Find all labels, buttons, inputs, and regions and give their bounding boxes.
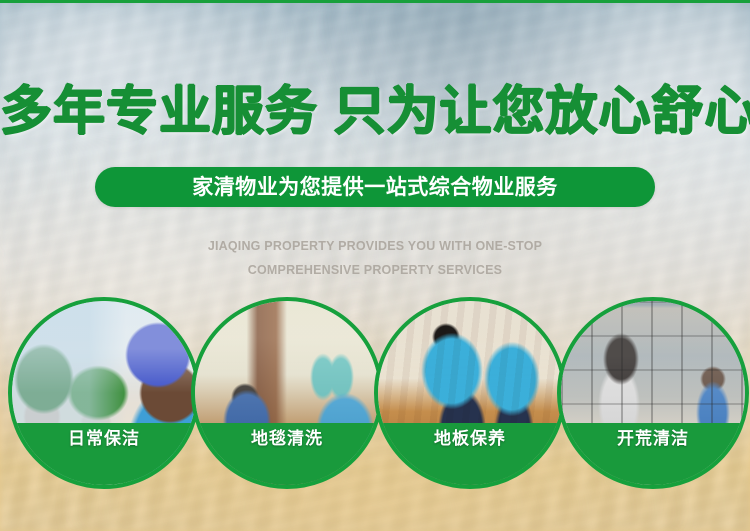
service-label: 开荒清洁 [617, 429, 689, 449]
service-circle-post-construction-cleaning[interactable]: 开荒清洁 [557, 297, 749, 489]
service-circle-carpet-cleaning[interactable]: 地毯清洗 [191, 297, 383, 489]
service-circle-daily-cleaning[interactable]: 日常保洁 [8, 297, 200, 489]
service-circle-floor-care[interactable]: 地板保养 [374, 297, 566, 489]
tagline-text: 家清物业为您提供一站式综合物业服务 [192, 177, 558, 198]
top-accent-bar [0, 0, 750, 3]
page-title: 多年专业服务 只为让您放心舒心 [0, 84, 750, 140]
english-subtitle: JIAQING PROPERTY PROVIDES YOU WITH ONE-S… [0, 234, 750, 282]
service-circle-list: 日常保洁 地毯清洗 地板保养 开荒清洁 [0, 297, 750, 493]
english-subtitle-line-2: COMPREHENSIVE PROPERTY SERVICES [0, 258, 750, 282]
service-label: 日常保洁 [68, 429, 140, 449]
service-label: 地板保养 [434, 429, 506, 449]
promo-banner: 多年专业服务 只为让您放心舒心 家清物业为您提供一站式综合物业服务 JIAQIN… [0, 0, 750, 531]
service-label: 地毯清洗 [251, 429, 323, 449]
tagline-pill: 家清物业为您提供一站式综合物业服务 [95, 167, 655, 207]
english-subtitle-line-1: JIAQING PROPERTY PROVIDES YOU WITH ONE-S… [0, 234, 750, 258]
